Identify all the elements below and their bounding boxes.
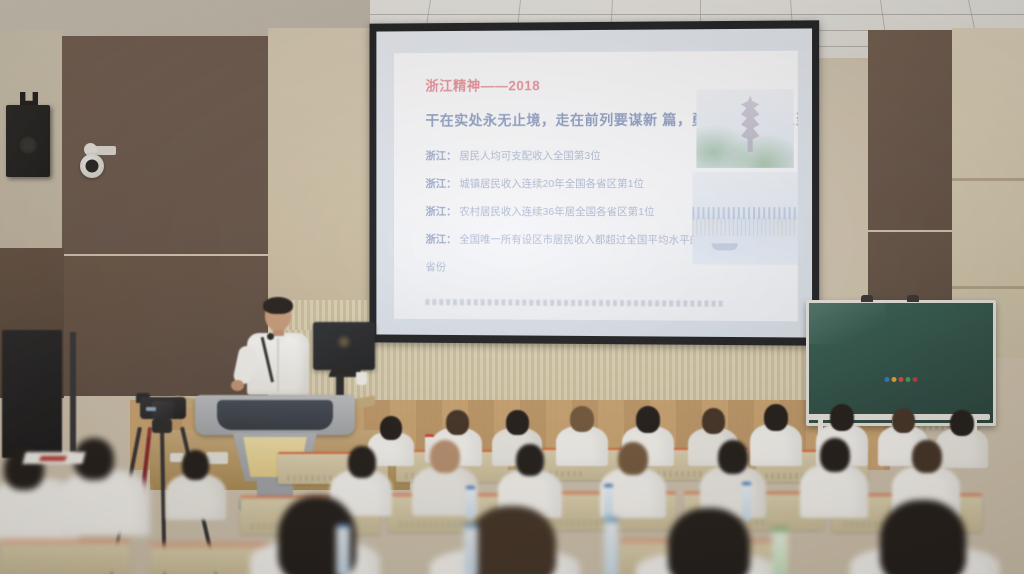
water-bottle (336, 524, 350, 574)
black-lcd-monitor (313, 322, 375, 370)
podium-control-panel (217, 400, 333, 430)
speaker-cone-icon (18, 135, 38, 155)
slide-title: 浙江精神——2018 (425, 74, 540, 94)
wall-speaker (6, 105, 50, 177)
lecture-hall-photo: 浙江精神——2018 干在实处永无止境，走在前列要谋新 篇，勇立潮头方显担当 浙… (0, 0, 1024, 574)
bullet-label: 浙江： (425, 206, 456, 218)
presenter-hair (263, 297, 293, 314)
board-clip (861, 295, 873, 302)
slide-bullet: 浙江： 农村居民收入连续36年居全国各省区第1位 (425, 204, 724, 219)
bullet-text: 城镇居民收入连续20年全国各省区第1位 (459, 178, 644, 190)
water-bottle (466, 486, 475, 519)
presenter (243, 300, 313, 400)
wall-panel-brown-upper-right (868, 30, 960, 230)
water-bottle (464, 524, 478, 574)
paper-cup (356, 372, 367, 385)
stand-pole (70, 332, 76, 452)
desk (0, 540, 130, 574)
board-magnets (885, 377, 918, 382)
water-bottle (604, 484, 613, 521)
board-clip (907, 295, 919, 302)
water-bottle (604, 518, 618, 574)
slide-bullet: 浙江： 城镇居民收入连续20年全国各省区第1位 (425, 176, 724, 191)
microphone-capsule-icon (267, 333, 274, 340)
presenter-hand (231, 380, 244, 391)
camera-lens-icon (86, 160, 99, 173)
water-reflection (692, 218, 797, 236)
red-marker (39, 456, 66, 461)
dome-security-camera (80, 154, 104, 178)
slide-footer-note (425, 299, 724, 307)
water-bottle (772, 528, 788, 574)
west-lake-dusk-photo (692, 172, 797, 265)
presenter-shirt-placket (277, 338, 279, 392)
camera-badge (146, 407, 156, 411)
slide-bullet: 浙江： 全国唯一所有设区市居民收入都超过全国平均水平的 (425, 232, 724, 248)
slide-bullet-continuation: 省份 (425, 259, 724, 275)
bullet-label: 浙江： (425, 178, 456, 190)
monitor-emblem (336, 334, 352, 350)
pagoda-icon (741, 95, 759, 151)
av-cabinet (2, 330, 62, 458)
slide-bullet: 浙江： 居民人均可支配收入全国第3位 (425, 148, 724, 163)
presentation-slide: 浙江精神——2018 干在实处永无止境，走在前列要谋新 篇，勇立潮头方显担当 浙… (394, 51, 798, 322)
tripod-head (152, 419, 172, 433)
bullet-label: 浙江： (425, 234, 456, 246)
boat-shape (711, 243, 737, 250)
bullet-text: 农村居民收入连续36年居全国各省区第1位 (459, 206, 654, 218)
projection-screen: 浙江精神——2018 干在实处永无止境，走在前列要谋新 篇，勇立潮头方显担当 浙… (370, 20, 820, 345)
water-bottle (742, 482, 751, 521)
board-glare (809, 303, 886, 344)
monitor-post (336, 374, 344, 396)
bullet-label: 浙江： (425, 150, 456, 162)
screen-surface: 浙江精神——2018 干在实处永无止境，走在前列要谋新 篇，勇立潮头方显担当 浙… (376, 28, 812, 337)
bullet-text: 居民人均可支配收入全国第3位 (459, 150, 600, 162)
bullet-text: 全国唯一所有设区市居民收入都超过全国平均水平的 (459, 234, 700, 247)
pagoda-hill-photo (696, 89, 793, 168)
slide-bullet-list: 浙江： 居民人均可支配收入全国第3位 浙江： 城镇居民收入连续20年全国各省区第… (425, 148, 724, 276)
